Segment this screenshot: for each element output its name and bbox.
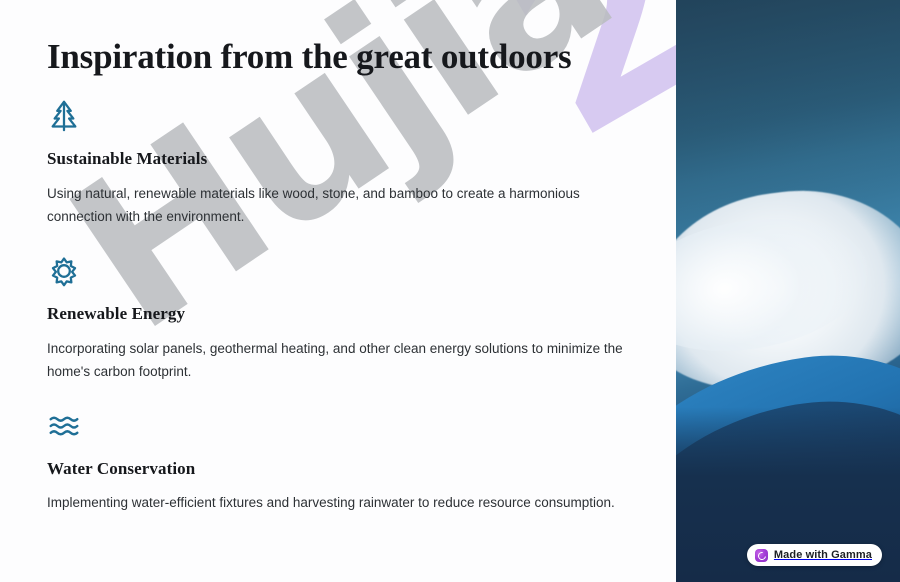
feature-title: Sustainable Materials: [47, 149, 630, 169]
badge-label: Made with Gamma: [774, 549, 872, 561]
waves-icon: [47, 409, 81, 443]
page-title: Inspiration from the great outdoors: [47, 36, 630, 77]
made-with-gamma-badge[interactable]: Made with Gamma: [747, 544, 882, 566]
feature-item-renewable-energy: Renewable Energy Incorporating solar pan…: [47, 254, 630, 383]
sun-icon: [47, 254, 81, 288]
feature-item-water-conservation: Water Conservation Implementing water-ef…: [47, 409, 630, 515]
feature-body: Implementing water-efficient fixtures an…: [47, 491, 627, 514]
gamma-logo-icon: [755, 549, 768, 562]
pine-tree-icon: [47, 99, 81, 133]
feature-body: Using natural, renewable materials like …: [47, 182, 627, 228]
decorative-image-panel: [676, 0, 900, 582]
feature-title: Renewable Energy: [47, 304, 630, 324]
feature-title: Water Conservation: [47, 459, 630, 479]
feature-body: Incorporating solar panels, geothermal h…: [47, 337, 627, 383]
slide-canvas: 24 Hujiat Inspiration from the great out…: [0, 0, 900, 582]
feature-item-sustainable-materials: Sustainable Materials Using natural, ren…: [47, 99, 630, 228]
content-column: Inspiration from the great outdoors Sust…: [0, 0, 676, 582]
